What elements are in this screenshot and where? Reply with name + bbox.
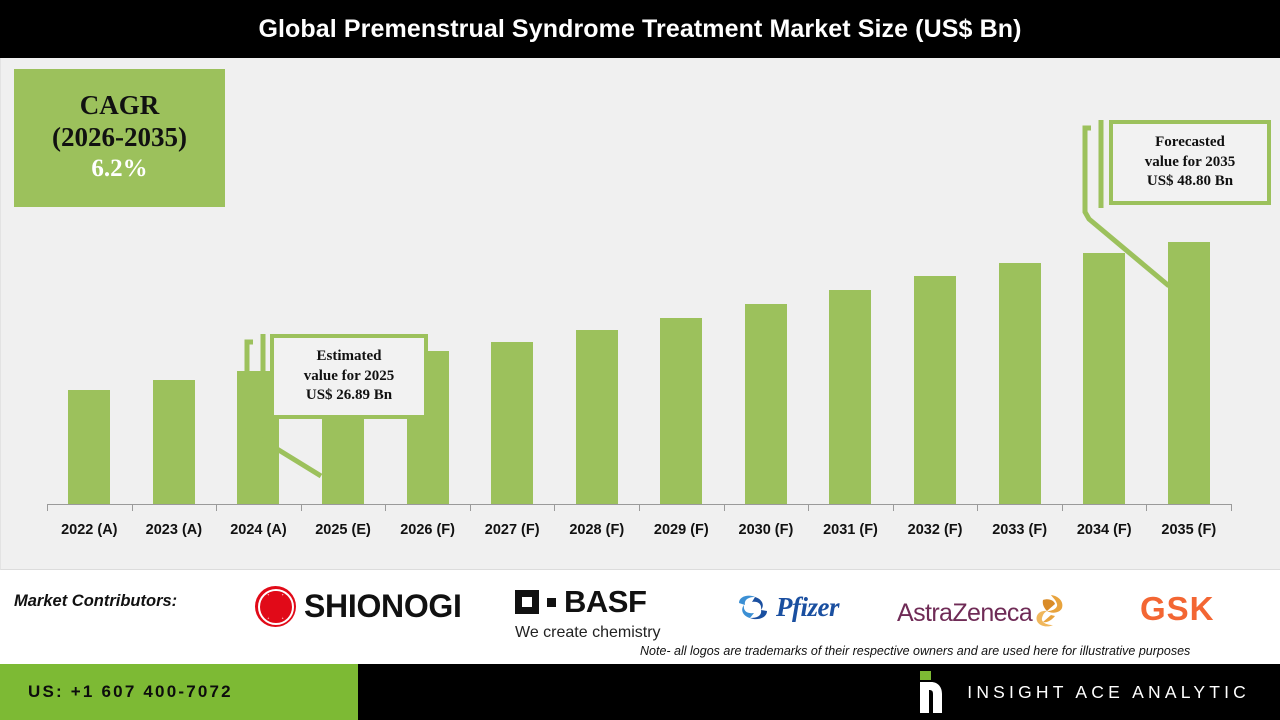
callout-estimated-line2: value for 2025 (304, 367, 395, 387)
x-tick (1146, 504, 1147, 511)
x-tick (47, 504, 48, 511)
title-bar: Global Premenstrual Syndrome Treatment M… (0, 0, 1280, 58)
astrazeneca-ribbon-icon (1033, 594, 1065, 632)
x-tick (554, 504, 555, 511)
bar-series (47, 58, 1231, 504)
shionogi-wordmark: SHIONOGI (304, 588, 462, 625)
basf-wordmark: BASF (564, 584, 646, 620)
bar-2031F (829, 290, 871, 504)
astrazeneca-wordmark: AstraZeneca (897, 599, 1032, 628)
bar-2033F (999, 263, 1041, 504)
footer-brand-block: INSIGHT ACE ANALYTIC (909, 664, 1250, 720)
x-axis-labels: 2022 (A)2023 (A)2024 (A)2025 (E)2026 (F)… (47, 515, 1231, 545)
trademark-note: Note- all logos are trademarks of their … (640, 644, 1190, 658)
x-tick (132, 504, 133, 511)
page-title: Global Premenstrual Syndrome Treatment M… (258, 15, 1021, 44)
bar-2028F (576, 330, 618, 504)
x-tick (216, 504, 217, 511)
bar-2032F (914, 276, 956, 504)
footer-brand-name: INSIGHT ACE ANALYTIC (967, 682, 1250, 703)
x-tick (301, 504, 302, 511)
pfizer-swirl-icon (735, 594, 771, 622)
chart-panel: CAGR (2026-2035) 6.2% 2022 (A)2023 (A)20… (0, 58, 1280, 570)
x-tick (808, 504, 809, 511)
bar-2027F (491, 342, 533, 504)
shionogi-mark-icon (255, 586, 296, 627)
bar-2022A (68, 390, 110, 504)
x-label-2024A: 2024 (A) (216, 515, 301, 545)
x-label-2034F: 2034 (F) (1062, 515, 1147, 545)
basf-square-icon (515, 590, 539, 614)
callout-forecasted-line3: US$ 48.80 Bn (1147, 172, 1233, 192)
x-tick (893, 504, 894, 511)
x-tick (977, 504, 978, 511)
bar-2030F (745, 304, 787, 504)
x-tick (639, 504, 640, 511)
callout-forecasted-line2: value for 2035 (1145, 153, 1236, 173)
x-label-2027F: 2027 (F) (470, 515, 555, 545)
x-label-2025E: 2025 (E) (301, 515, 386, 545)
x-tick (385, 504, 386, 511)
callout-estimated-line1: Estimated (317, 347, 382, 367)
basf-tagline: We create chemistry (515, 624, 661, 642)
callout-estimated-2025: Estimated value for 2025 US$ 26.89 Bn (270, 334, 428, 419)
logo-astrazeneca: AstraZeneca (897, 594, 1065, 632)
bar-2034F (1083, 253, 1125, 504)
footer-phone-block: US: +1 607 400-7072 (0, 664, 358, 720)
x-label-2026F: 2026 (F) (385, 515, 470, 545)
callout-forecasted-line1: Forecasted (1155, 133, 1225, 153)
x-tick (1062, 504, 1063, 511)
footer-phone: US: +1 607 400-7072 (28, 682, 233, 702)
bar-2029F (660, 318, 702, 504)
pfizer-wordmark: Pfizer (776, 592, 839, 623)
logo-gsk: GSK (1140, 590, 1215, 628)
contributors-label: Market Contributors: (14, 592, 177, 611)
x-label-2033F: 2033 (F) (977, 515, 1062, 545)
x-tick (1231, 504, 1232, 511)
x-label-2030F: 2030 (F) (724, 515, 809, 545)
x-tick (470, 504, 471, 511)
bar-2023A (153, 380, 195, 504)
logo-basf: BASF We create chemistry (515, 584, 661, 642)
x-label-2022A: 2022 (A) (47, 515, 132, 545)
logo-shionogi: SHIONOGI (255, 586, 462, 627)
logo-pfizer: Pfizer (735, 592, 839, 623)
x-label-2032F: 2032 (F) (893, 515, 978, 545)
x-label-2031F: 2031 (F) (808, 515, 893, 545)
bar-2035F (1168, 242, 1210, 504)
x-label-2028F: 2028 (F) (554, 515, 639, 545)
x-label-2035F: 2035 (F) (1147, 515, 1232, 545)
basf-row: BASF (515, 584, 646, 620)
insightace-logo-icon (909, 671, 945, 713)
callout-forecasted-2035: Forecasted value for 2035 US$ 48.80 Bn (1109, 120, 1271, 205)
gsk-wordmark: GSK (1140, 590, 1215, 628)
footer-bar: US: +1 607 400-7072 INSIGHT ACE ANALYTIC (0, 664, 1280, 720)
basf-dot-icon (547, 598, 556, 607)
x-label-2023A: 2023 (A) (132, 515, 217, 545)
callout-estimated-line3: US$ 26.89 Bn (306, 386, 392, 406)
x-tick (724, 504, 725, 511)
x-label-2029F: 2029 (F) (639, 515, 724, 545)
